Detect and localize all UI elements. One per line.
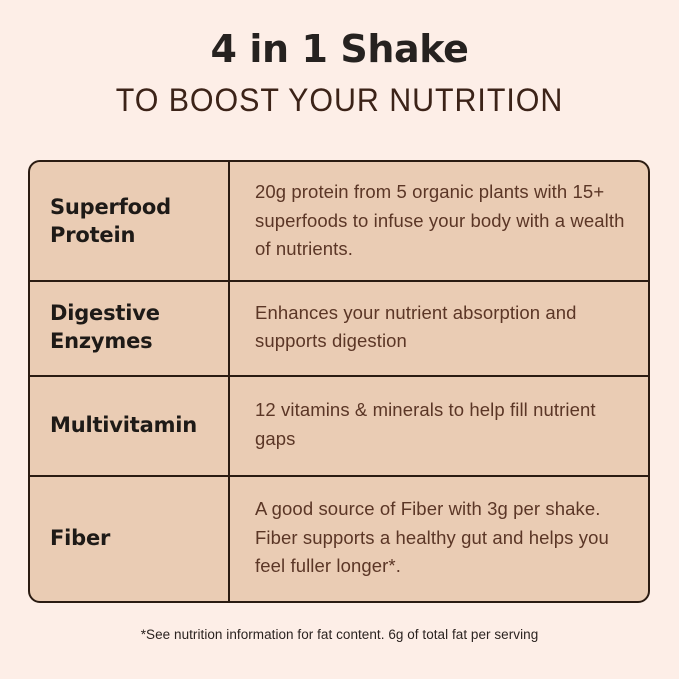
table-cell-label: Superfood Protein (30, 162, 230, 280)
infographic-page: 4 in 1 Shake TO BOOST YOUR NUTRITION Sup… (0, 0, 679, 679)
table-cell-description: Enhances your nutrient absorption and su… (230, 280, 648, 375)
table-row: Fiber A good source of Fiber with 3g per… (30, 475, 648, 601)
table-cell-description: 12 vitamins & minerals to help fill nutr… (230, 375, 648, 475)
table-cell-label: Multivitamin (30, 375, 230, 475)
table-cell-description: 20g protein from 5 organic plants with 1… (230, 162, 648, 280)
table-cell-description: A good source of Fiber with 3g per shake… (230, 475, 648, 601)
benefit-label: Superfood Protein (50, 193, 230, 250)
benefits-table: Superfood Protein 20g protein from 5 org… (28, 160, 650, 603)
table-cell-label: Fiber (30, 475, 230, 601)
benefits-table-wrapper: Superfood Protein 20g protein from 5 org… (28, 160, 650, 603)
benefit-description: 12 vitamins & minerals to help fill nutr… (255, 396, 630, 453)
benefit-label: Digestive Enzymes (50, 299, 230, 356)
table-row: Multivitamin 12 vitamins & minerals to h… (30, 375, 648, 475)
benefits-table-body: Superfood Protein 20g protein from 5 org… (30, 162, 648, 601)
benefit-label: Fiber (50, 524, 110, 552)
header: 4 in 1 Shake TO BOOST YOUR NUTRITION (0, 28, 679, 118)
footnote: *See nutrition information for fat conte… (0, 627, 679, 642)
benefit-description: A good source of Fiber with 3g per shake… (255, 495, 630, 581)
benefit-label: Multivitamin (50, 411, 197, 439)
table-cell-label: Digestive Enzymes (30, 280, 230, 375)
page-subtitle: TO BOOST YOUR NUTRITION (17, 82, 662, 119)
table-row: Superfood Protein 20g protein from 5 org… (30, 162, 648, 280)
page-title: 4 in 1 Shake (0, 28, 679, 72)
benefit-description: Enhances your nutrient absorption and su… (255, 299, 630, 356)
table-row: Digestive Enzymes Enhances your nutrient… (30, 280, 648, 375)
benefit-description: 20g protein from 5 organic plants with 1… (255, 178, 630, 264)
